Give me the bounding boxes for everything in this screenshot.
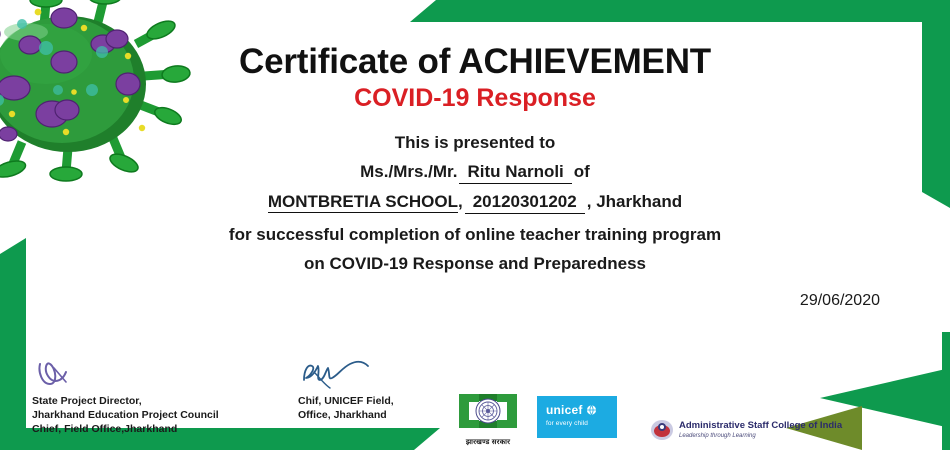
jharkhand-emblem-icon bbox=[455, 390, 521, 432]
signature-block-unicef-chief: Chif, UNICEF Field, Office, Jharkhand bbox=[298, 358, 394, 423]
signature-mark-icon bbox=[32, 358, 102, 390]
school-code-field[interactable]: 20120301202 bbox=[465, 192, 585, 214]
page-subtitle: COVID-19 Response bbox=[0, 84, 950, 113]
school-separator-1: , bbox=[458, 192, 463, 211]
signature-caption-line-3: Chief, Field Office,Jharkhand bbox=[32, 423, 219, 437]
school-line: MONTBRETIA SCHOOL,20120301202, Jharkhand bbox=[0, 192, 950, 214]
of-label: of bbox=[574, 162, 590, 181]
unicef-wordmark: unicef bbox=[546, 404, 617, 416]
jharkhand-government-logo: झारखण्ड सरकार bbox=[452, 390, 524, 446]
presented-to-label: This is presented to bbox=[0, 133, 950, 153]
asci-tagline: Leadership through Learning bbox=[679, 433, 842, 439]
page-title: Certificate of ACHIEVEMENT bbox=[0, 42, 950, 82]
certificate-content: Certificate of ACHIEVEMENT COVID-19 Resp… bbox=[0, 0, 950, 450]
unicef-logo: unicef for every child bbox=[537, 396, 617, 438]
asci-logo: Administrative Staff College of India Le… bbox=[650, 418, 842, 442]
school-name-field[interactable]: MONTBRETIA SCHOOL bbox=[268, 192, 458, 213]
program-line: for successful completion of online teac… bbox=[0, 225, 950, 245]
certificate-page: Certificate of ACHIEVEMENT COVID-19 Resp… bbox=[0, 0, 950, 450]
topic-line: on COVID-19 Response and Preparedness bbox=[0, 254, 950, 274]
asci-text-group: Administrative Staff College of India Le… bbox=[679, 421, 842, 438]
unicef-tagline: for every child bbox=[546, 420, 617, 427]
state-label: Jharkhand bbox=[596, 192, 682, 211]
signature-block-state-project-director: State Project Director, Jharkhand Educat… bbox=[32, 358, 219, 437]
salutation-label: Ms./Mrs./Mr. bbox=[360, 162, 457, 181]
signature-caption-line-1: Chif, UNICEF Field, bbox=[298, 395, 394, 409]
recipient-name-field[interactable]: Ritu Narnoli bbox=[459, 162, 571, 184]
recipient-line: Ms./Mrs./Mr.Ritu Narnoliof bbox=[0, 162, 950, 184]
jharkhand-logo-caption: झारखण्ड सरकार bbox=[452, 438, 524, 447]
signature-caption-line-2: Jharkhand Education Project Council bbox=[32, 409, 219, 423]
unicef-globe-icon bbox=[585, 405, 598, 415]
issue-date: 29/06/2020 bbox=[800, 292, 880, 310]
school-separator-2: , bbox=[587, 192, 592, 211]
signature-caption-line-1: State Project Director, bbox=[32, 395, 219, 409]
unicef-wordmark-text: unicef bbox=[546, 403, 583, 417]
signature-caption-line-2: Office, Jharkhand bbox=[298, 409, 394, 423]
asci-emblem-icon bbox=[650, 418, 674, 442]
asci-title: Administrative Staff College of India bbox=[679, 421, 842, 431]
signature-mark-icon bbox=[298, 358, 388, 390]
